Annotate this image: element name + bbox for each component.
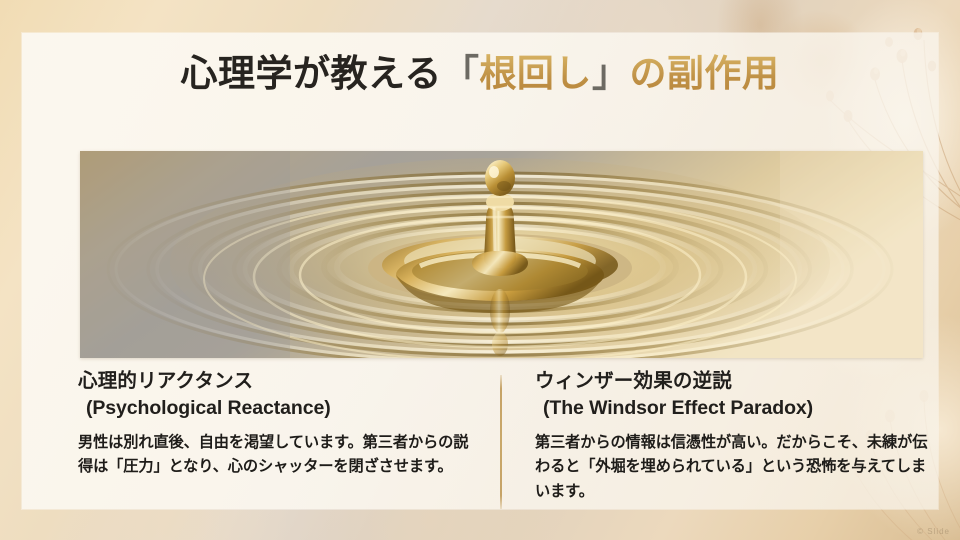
golden-droplet-ripple-illustration [80, 151, 923, 358]
page-title-bracket-open: 「 [442, 54, 480, 95]
column-heading-ja: ウィンザー効果の逆説 [513, 369, 936, 395]
column-heading-en: (The Windsor Effect Paradox) [513, 395, 936, 422]
concept-column-psychological-reactance: 心理的リアクタンス (Psychological Reactance) 男性は別… [56, 369, 479, 534]
page-title: 心理学が教える「根回し」の副作用 [22, 54, 938, 95]
page-title-bracket-close: 」 [592, 54, 630, 95]
column-heading-ja: 心理的リアクタンス [56, 369, 479, 395]
page-title-dark-segment: 心理学が教える [181, 54, 442, 95]
page-title-gold-segment: 根回し [479, 54, 592, 95]
page-title-gold-tail: の副作用 [629, 54, 779, 95]
column-body-text: 男性は別れ直後、自由を渇望しています。第三者からの説得は「圧力」となり、心のシャ… [56, 431, 479, 480]
golden-droplet-ripple-image [80, 151, 923, 358]
column-heading-en: (Psychological Reactance) [56, 395, 479, 422]
column-body-text: 第三者からの情報は信憑性が高い。だからこそ、未練が伝わると「外堀を埋められている… [513, 431, 936, 505]
column-spacer [479, 369, 513, 534]
concept-column-windsor-effect-paradox: ウィンザー効果の逆説 (The Windsor Effect Paradox) … [513, 369, 936, 534]
content-card: 心理学が教える「根回し」の副作用 [22, 33, 938, 509]
concept-columns: 心理的リアクタンス (Psychological Reactance) 男性は別… [56, 369, 936, 534]
watermark: © Slide [917, 527, 950, 536]
